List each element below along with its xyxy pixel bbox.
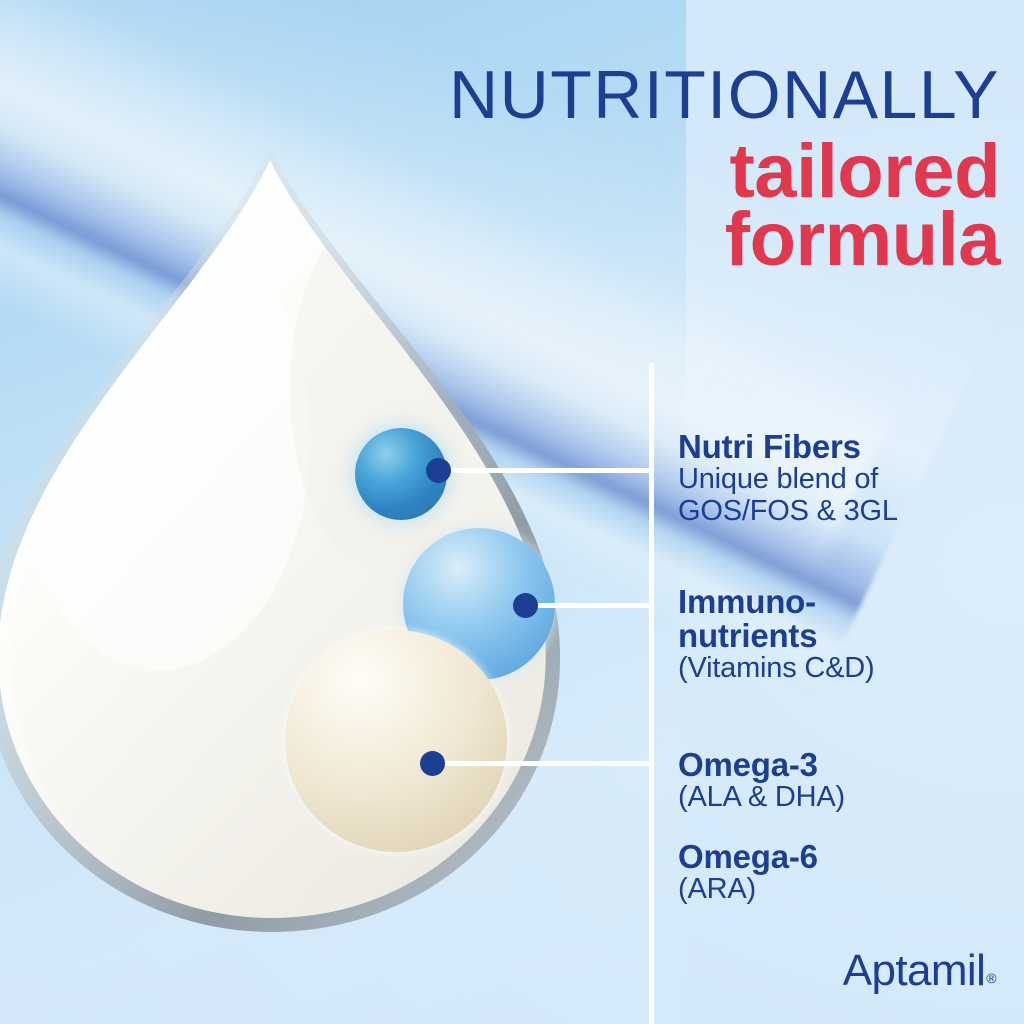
callout-immuno-nutrients-title-line-2: nutrients — [678, 619, 1008, 653]
omega-sphere — [285, 630, 507, 852]
callout-immuno-nutrients: Immuno- nutrients (Vitamins C&D) — [678, 585, 1008, 685]
callout-immuno-nutrients-subtitle: (Vitamins C&D) — [678, 653, 1008, 685]
marker-dot-immuno-nutrients — [513, 593, 538, 618]
brand-logo-name: Aptamil — [843, 946, 986, 995]
aptamil-nutritionally-tailored-formula-poster: NUTRITIONALLY tailored formula Nutri Fib… — [0, 0, 1024, 1024]
marker-dot-omega — [420, 751, 445, 776]
connector-line-nutri-fibers — [438, 468, 653, 473]
vertical-connector-line — [649, 363, 654, 1024]
callout-omega-3-subtitle: (ALA & DHA) — [678, 782, 1008, 814]
callout-nutri-fibers-title: Nutri Fibers — [678, 430, 1008, 464]
callout-omega-6: Omega-6 (ARA) — [678, 840, 1008, 906]
headline-line-3: formula — [449, 203, 1000, 277]
registered-trademark-icon: ® — [986, 970, 996, 986]
callout-immuno-nutrients-title-line-1: Immuno- — [678, 585, 1008, 619]
brand-logo: Aptamil® — [843, 946, 996, 996]
callout-nutri-fibers-subtitle-line-1: Unique blend of — [678, 464, 1008, 496]
connector-line-omega — [432, 761, 653, 766]
marker-dot-nutri-fibers — [426, 458, 451, 483]
callout-nutri-fibers: Nutri Fibers Unique blend of GOS/FOS & 3… — [678, 430, 1008, 528]
headline-line-1: NUTRITIONALLY — [449, 62, 1000, 129]
connector-line-immuno-nutrients — [525, 603, 653, 608]
callout-omega-3: Omega-3 (ALA & DHA) — [678, 748, 1008, 814]
callout-omega-6-title: Omega-6 — [678, 840, 1008, 874]
headline: NUTRITIONALLY tailored formula — [449, 62, 1000, 278]
callout-omega-3-title: Omega-3 — [678, 748, 1008, 782]
callout-nutri-fibers-subtitle-line-2: GOS/FOS & 3GL — [678, 496, 1008, 528]
callout-omega-6-subtitle: (ARA) — [678, 874, 1008, 906]
